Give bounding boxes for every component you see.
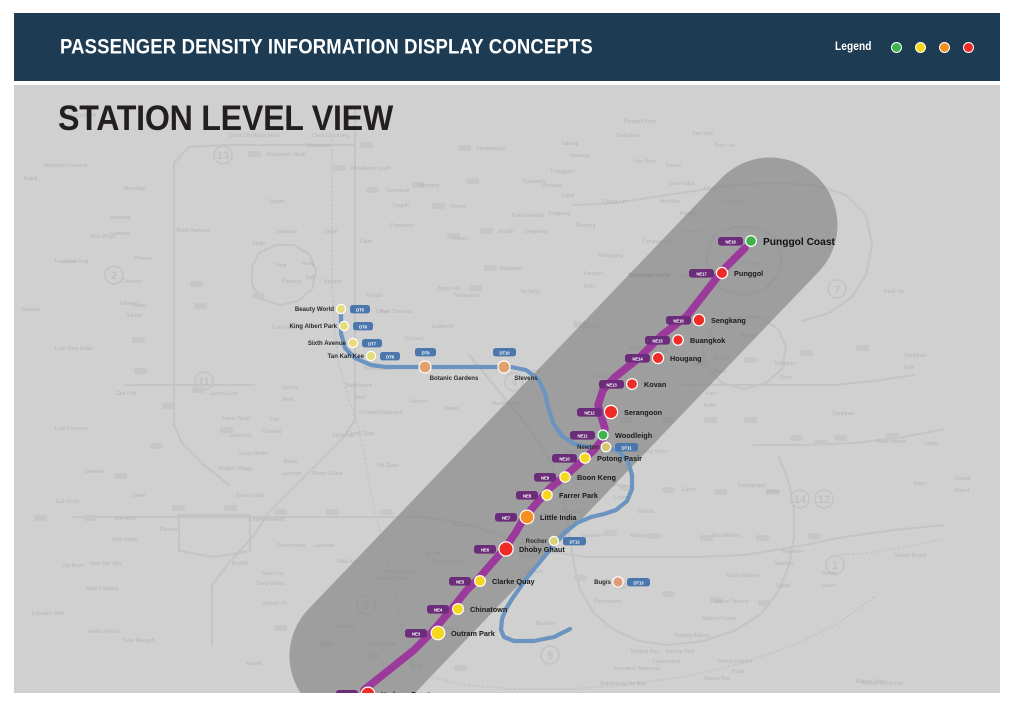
svg-text:East: East (904, 365, 915, 371)
svg-text:Nanyang Crescent: Nanyang Crescent (44, 163, 88, 169)
svg-text:Buona Vista: Buona Vista (236, 493, 264, 499)
svg-text:Pasir Ris: Pasir Ris (884, 289, 905, 295)
svg-text:Thanggam: Thanggam (550, 169, 575, 175)
svg-text:Changi: Changi (954, 476, 970, 482)
svg-text:West: West (780, 375, 792, 381)
svg-text:Great World: Great World (239, 451, 267, 457)
svg-text:Petir: Petir (276, 263, 287, 269)
svg-text:Tampines: Tampines (904, 353, 927, 359)
svg-text:Marina Bay: Marina Bay (704, 676, 731, 682)
svg-text:Orchard Boulevard: Orchard Boulevard (359, 410, 403, 416)
svg-text:Admiralty: Admiralty (418, 183, 440, 189)
svg-text:Havelock: Havelock (230, 433, 252, 439)
svg-text:NE12: NE12 (584, 410, 595, 415)
svg-text:Kangkar: Kangkar (584, 271, 604, 277)
svg-text:Simei: Simei (814, 439, 827, 445)
legend-dot-orange (939, 42, 950, 53)
svg-text:NE18: NE18 (725, 239, 736, 244)
svg-text:Nanyang: Nanyang (110, 215, 131, 221)
svg-text:Bedok: Bedok (822, 571, 837, 577)
svg-text:NE1: NE1 (343, 692, 352, 693)
svg-text:Little India: Little India (540, 513, 577, 522)
svg-text:DT6: DT6 (359, 324, 368, 329)
dt-station-DT11[interactable]: DT11 Newton (577, 442, 638, 452)
svg-text:Kah: Kah (306, 275, 315, 281)
svg-text:Marsiling: Marsiling (124, 186, 145, 192)
svg-text:Woodleigh: Woodleigh (615, 431, 652, 440)
svg-text:Yishun: Yishun (451, 204, 467, 210)
page-title: STATION LEVEL VIEW (58, 99, 393, 139)
svg-text:Cantonment: Cantonment (652, 659, 681, 665)
svg-text:West: West (354, 395, 366, 401)
svg-text:DT5: DT5 (356, 307, 365, 312)
header-bar: PASSENGER DENSITY INFORMATION DISPLAY CO… (14, 13, 1000, 81)
svg-text:Soo Teck: Soo Teck (634, 159, 656, 165)
svg-text:NE10: NE10 (559, 456, 570, 461)
svg-text:Outram Pk: Outram Pk (262, 601, 287, 607)
svg-text:14: 14 (794, 494, 807, 506)
svg-text:Defu: Defu (584, 284, 595, 290)
svg-text:Nicoll Highway: Nicoll Highway (726, 573, 760, 579)
svg-text:Junction: Junction (282, 471, 301, 477)
svg-text:Tai Seng: Tai Seng (520, 289, 540, 295)
svg-text:Tawas: Tawas (132, 303, 147, 309)
svg-text:Springleal: Springleal (386, 188, 409, 194)
svg-text:Joo Koon: Joo Koon (62, 563, 84, 569)
svg-text:Pending: Pending (282, 279, 301, 285)
svg-text:12: 12 (818, 494, 830, 506)
svg-text:King Albert Park: King Albert Park (289, 323, 337, 330)
svg-text:Cashew: Cashew (122, 279, 141, 285)
svg-text:Marine Terrace: Marine Terrace (714, 599, 749, 605)
svg-text:Botanic Gardens: Botanic Gardens (430, 375, 479, 382)
svg-text:Plantation: Plantation (390, 223, 413, 229)
dt-station-DT8[interactable]: DT8 Tan Kah Kee (328, 351, 400, 360)
svg-text:Dover: Dover (132, 493, 146, 499)
svg-text:Caldecott: Caldecott (432, 324, 454, 330)
svg-text:5: 5 (547, 650, 553, 662)
svg-text:Tampines: Tampines (832, 411, 855, 417)
svg-text:Eunos: Eunos (682, 487, 697, 493)
svg-text:Tuas Link: Tuas Link (54, 259, 77, 265)
dt-station-DT5[interactable]: DT5 Beauty World (295, 304, 370, 313)
svg-text:NE16: NE16 (673, 318, 684, 323)
svg-text:NE7: NE7 (502, 515, 511, 520)
ne-station-NE13[interactable]: NE13 Kovan (599, 379, 666, 390)
svg-text:Serangoon: Serangoon (454, 293, 479, 299)
svg-text:Phoenix: Phoenix (134, 256, 153, 262)
svg-text:Lakeside: Lakeside (314, 543, 335, 549)
svg-text:NE17: NE17 (696, 271, 707, 276)
svg-text:Newton: Newton (577, 444, 599, 451)
svg-text:one-north: one-north (114, 516, 136, 522)
svg-text:Tuas West Road: Tuas West Road (54, 346, 92, 352)
svg-text:Sumang: Sumang (570, 153, 589, 159)
legend: Legend (835, 41, 975, 53)
svg-text:Tan Kah Kee: Tan Kah Kee (328, 353, 365, 360)
svg-text:Pasir Panjang: Pasir Panjang (86, 586, 118, 592)
svg-text:Promenade: Promenade (594, 599, 621, 605)
svg-text:Woodlands: Woodlands (306, 143, 332, 149)
svg-text:Segar: Segar (324, 229, 338, 235)
svg-text:Gardens by the Bay: Gardens by the Bay (600, 681, 646, 687)
svg-text:Hong: Hong (302, 261, 315, 267)
svg-text:NE4: NE4 (434, 607, 443, 612)
svg-text:Road: Road (732, 669, 745, 675)
svg-text:Expo: Expo (914, 481, 926, 487)
svg-text:Senja: Senja (252, 241, 265, 247)
svg-text:Sam Kee: Sam Kee (692, 131, 713, 137)
svg-text:Tongkang: Tongkang (548, 211, 571, 217)
svg-text:Bukit Panjang: Bukit Panjang (177, 228, 209, 234)
mrt-map: 13 11 2 4 11 7 1 14 (14, 85, 1000, 693)
svg-text:Gateway: Gateway (110, 231, 131, 237)
svg-text:Punggol: Punggol (734, 269, 763, 278)
svg-text:Tanjong Katong: Tanjong Katong (674, 633, 710, 639)
svg-text:Founders' Memorial: Founders' Memorial (614, 666, 660, 672)
svg-text:Orchard: Orchard (404, 336, 423, 342)
svg-text:Teck Lee: Teck Lee (714, 143, 735, 149)
ne-station-NE10[interactable]: NE10 Potong Pasir (552, 453, 642, 463)
svg-text:*Hume: *Hume (126, 313, 142, 319)
svg-text:11: 11 (198, 376, 210, 388)
svg-text:Dhoby Ghaut: Dhoby Ghaut (312, 471, 343, 477)
svg-text:Farrer Park: Farrer Park (559, 491, 599, 500)
svg-text:Harbour Front: Harbour Front (381, 690, 431, 693)
svg-text:Kovan: Kovan (644, 380, 666, 389)
svg-text:Rochor: Rochor (526, 538, 548, 545)
dt-station-DT6[interactable]: DT6 King Albert Park (289, 321, 373, 330)
svg-text:Pioneer: Pioneer (160, 527, 178, 533)
svg-text:Woodlands South: Woodlands South (350, 166, 391, 172)
svg-text:Newton: Newton (410, 399, 428, 405)
svg-text:Gombak: Gombak (21, 307, 41, 313)
svg-text:Coral Edge: Coral Edge (669, 181, 695, 187)
svg-text:Nibong: Nibong (562, 141, 579, 147)
svg-text:Punggol Point: Punggol Point (624, 119, 657, 125)
svg-text:Fernvale: Fernvale (542, 183, 562, 189)
svg-text:Tanjong Rhu: Tanjong Rhu (630, 649, 659, 655)
svg-text:Bedok: Bedok (766, 489, 781, 495)
svg-text:Haw Par Villa: Haw Par Villa (90, 561, 121, 567)
svg-text:Dhoby Ghaut: Dhoby Ghaut (519, 545, 565, 554)
svg-text:Marina South Pier: Marina South Pier (862, 681, 904, 687)
map-svg: 13 11 2 4 11 7 1 14 (14, 85, 1000, 693)
svg-text:Potong Pasir: Potong Pasir (597, 454, 642, 463)
svg-text:Toh Guan: Toh Guan (376, 463, 399, 469)
svg-text:Bayshore: Bayshore (782, 549, 804, 555)
legend-label: Legend (835, 41, 872, 53)
svg-text:Canning: Canning (262, 429, 281, 435)
svg-text:Kent Ridge: Kent Ridge (112, 537, 138, 543)
svg-text:Bukit Batok: Bukit Batok (346, 383, 373, 389)
svg-text:HarbourFront: HarbourFront (88, 629, 119, 635)
svg-text:DT10: DT10 (499, 350, 510, 355)
svg-text:Paya: Paya (614, 483, 626, 489)
svg-text:Airport: Airport (954, 488, 970, 494)
svg-text:Jurong: Jurong (282, 385, 298, 391)
svg-text:Sungei Bedok: Sungei Bedok (894, 553, 927, 559)
svg-text:Farrer Road: Farrer Road (222, 416, 250, 422)
svg-text:Redhill: Redhill (232, 561, 248, 567)
svg-text:NE15: NE15 (652, 338, 663, 343)
svg-text:DT11: DT11 (622, 445, 633, 450)
svg-text:DT7: DT7 (368, 341, 377, 346)
svg-text:Labrador Park: Labrador Park (32, 611, 65, 617)
svg-text:Buangkok: Buangkok (690, 336, 726, 345)
svg-text:Meridian: Meridian (660, 199, 680, 205)
svg-text:7: 7 (834, 284, 840, 296)
svg-text:Beauty World: Beauty World (295, 306, 334, 313)
svg-text:Sengkang: Sengkang (711, 316, 746, 325)
svg-text:Tengah: Tengah (392, 203, 409, 209)
svg-text:DT8: DT8 (386, 354, 395, 359)
ne-station-NE5[interactable]: NE5 Clarke Quay (449, 576, 536, 587)
svg-text:Serangoon: Serangoon (624, 408, 662, 417)
svg-text:Kembangan: Kembangan (738, 483, 766, 489)
svg-text:NE8: NE8 (523, 493, 532, 498)
svg-text:Sixth Avenue: Sixth Avenue (308, 340, 347, 347)
svg-text:Gul Circle: Gul Circle (56, 499, 79, 505)
svg-text:Jelapang: Jelapang (276, 229, 297, 235)
page-header-title: PASSENGER DENSITY INFORMATION DISPLAY CO… (60, 35, 593, 60)
svg-text:Upper: Upper (924, 441, 938, 447)
svg-text:Fort: Fort (270, 417, 280, 423)
svg-text:Park: Park (380, 309, 391, 315)
svg-text:13: 13 (217, 150, 229, 162)
svg-text:Fajar: Fajar (360, 239, 372, 245)
svg-text:Siglap: Siglap (776, 583, 791, 589)
svg-text:Chang Lis: Chang Lis (602, 199, 626, 205)
svg-text:Kaki: Kaki (706, 391, 716, 397)
dt-station-DT10[interactable]: DT10 Stevens (493, 348, 538, 382)
svg-text:Prince Edward: Prince Edward (718, 659, 752, 665)
svg-text:Gek Poh: Gek Poh (116, 391, 136, 397)
svg-text:Tiong Bahru: Tiong Bahru (256, 581, 284, 587)
svg-text:Bukit Gombak: Bukit Gombak (512, 213, 545, 219)
legend-dot-yellow (915, 42, 926, 53)
svg-text:Tampines: Tampines (774, 361, 797, 367)
svg-text:NE14: NE14 (632, 356, 643, 361)
svg-text:Outram Park: Outram Park (451, 629, 496, 638)
svg-text:Queenstown: Queenstown (276, 543, 305, 549)
svg-text:Tanah Merah: Tanah Merah (876, 439, 906, 445)
svg-text:DT13: DT13 (633, 580, 644, 585)
svg-text:NE5: NE5 (456, 579, 465, 584)
ne-station-NE17[interactable]: NE17 Punggol (689, 267, 763, 278)
svg-text:Clementi: Clementi (84, 469, 104, 475)
svg-text:NE9: NE9 (541, 475, 550, 480)
svg-text:Punggol Coast: Punggol Coast (763, 237, 835, 248)
svg-text:DT12: DT12 (569, 539, 580, 544)
svg-text:Stevens: Stevens (514, 375, 538, 382)
svg-text:Kallang: Kallang (630, 533, 647, 539)
svg-text:Katong Park: Katong Park (666, 649, 695, 655)
svg-text:NE11: NE11 (577, 433, 588, 438)
svg-text:Layar: Layar (562, 193, 575, 199)
svg-text:Boon Lay: Boon Lay (262, 571, 284, 577)
svg-text:Clarke Quay: Clarke Quay (492, 577, 536, 586)
svg-text:Sengkang: Sengkang (524, 229, 547, 235)
svg-text:NE13: NE13 (606, 382, 617, 387)
svg-text:Clarke Quay: Clarke Quay (346, 431, 375, 437)
svg-text:West: West (282, 397, 294, 403)
slide-body: STATION LEVEL VIEW (14, 85, 1000, 693)
svg-text:Bangkit: Bangkit (324, 279, 342, 285)
svg-text:Sembawang: Sembawang (476, 146, 505, 152)
svg-text:Ranggung: Ranggung (599, 253, 623, 259)
svg-text:NE6: NE6 (481, 547, 490, 552)
svg-text:Tengah: Tengah (366, 293, 383, 299)
svg-text:2: 2 (111, 270, 117, 282)
slide-canvas: PASSENGER DENSITY INFORMATION DISPLAY CO… (0, 0, 1024, 709)
svg-text:Bright Hill: Bright Hill (438, 286, 460, 292)
dt-station-DT13[interactable]: DT13 Bugis (594, 577, 650, 587)
svg-text:South: South (822, 583, 836, 589)
svg-text:Napier: Napier (444, 406, 460, 412)
svg-text:Damai: Damai (666, 163, 681, 169)
svg-text:Holland Village: Holland Village (218, 466, 253, 472)
svg-text:Jurong East: Jurong East (210, 391, 238, 397)
svg-text:Mayflower: Mayflower (499, 266, 523, 272)
svg-text:Bahar: Bahar (284, 459, 298, 465)
svg-text:Renjong: Renjong (576, 223, 595, 229)
svg-text:DT9: DT9 (422, 350, 431, 355)
svg-text:Lentor: Lentor (454, 236, 469, 242)
svg-text:Bayfront: Bayfront (536, 621, 556, 627)
svg-text:Dakota: Dakota (638, 509, 655, 515)
svg-text:Tuas Crescent: Tuas Crescent (54, 426, 88, 432)
svg-text:Woodlands North: Woodlands North (266, 152, 306, 158)
svg-text:Stadium: Stadium (774, 561, 793, 567)
svg-text:Bugis: Bugis (594, 579, 612, 586)
svg-text:Tengah: Tengah (268, 199, 285, 205)
svg-text:NE3: NE3 (412, 631, 421, 636)
svg-text:Keppel: Keppel (246, 661, 262, 667)
svg-text:Mountbatten: Mountbatten (712, 533, 741, 539)
svg-text:Kranji: Kranji (24, 176, 37, 182)
legend-dot-red (963, 42, 974, 53)
svg-text:Chinatown: Chinatown (470, 605, 507, 614)
svg-text:Bukit: Bukit (704, 403, 716, 409)
svg-text:Samudera: Samudera (616, 133, 640, 139)
dt-station-DT7[interactable]: DT7 Sixth Avenue (308, 338, 382, 347)
svg-text:Marine Parade: Marine Parade (702, 616, 736, 622)
svg-text:Hougang: Hougang (670, 354, 702, 363)
legend-dot-green (891, 42, 902, 53)
svg-text:Boon Keng: Boon Keng (577, 473, 616, 482)
svg-text:Khatib: Khatib (499, 229, 514, 235)
svg-text:Commonwealth: Commonwealth (249, 517, 285, 523)
svg-text:Telok Blangah: Telok Blangah (122, 638, 155, 644)
